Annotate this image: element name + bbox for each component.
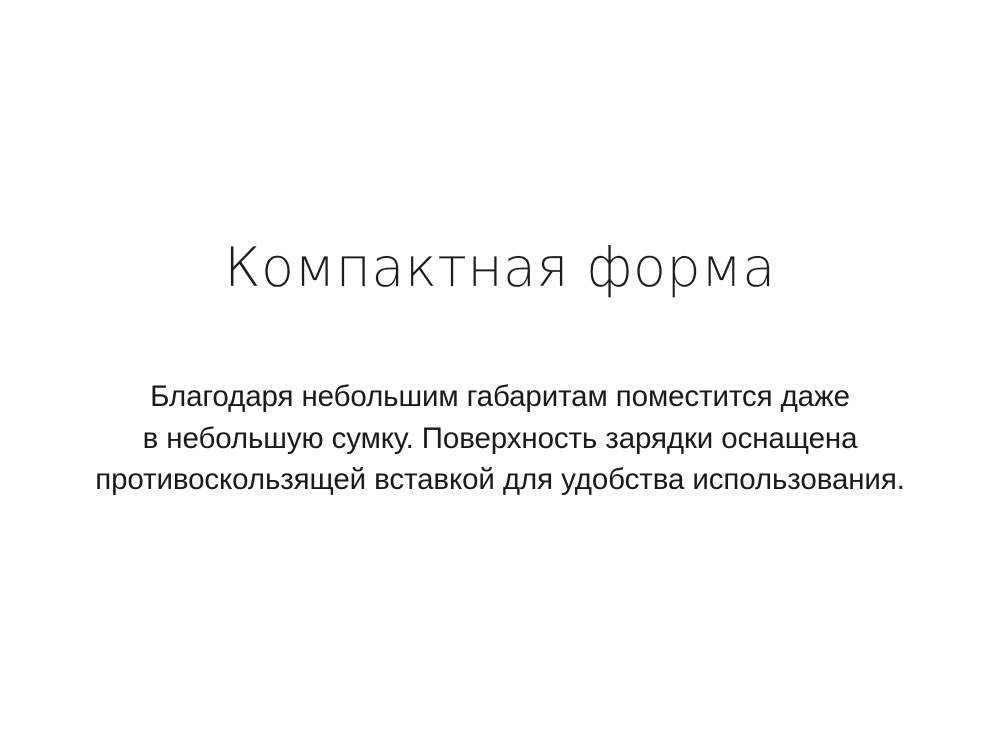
slide-title: Компактная форма <box>0 236 1000 300</box>
body-line-3: противоскользящей вставкой для удобства … <box>0 459 1000 501</box>
slide-body-text: Благодаря небольшим габаритам поместится… <box>0 376 1000 501</box>
presentation-slide: Компактная форма Благодаря небольшим габ… <box>0 0 1000 750</box>
body-line-2: в небольшую сумку. Поверхность зарядки о… <box>0 418 1000 460</box>
body-line-1: Благодаря небольшим габаритам поместится… <box>0 376 1000 418</box>
